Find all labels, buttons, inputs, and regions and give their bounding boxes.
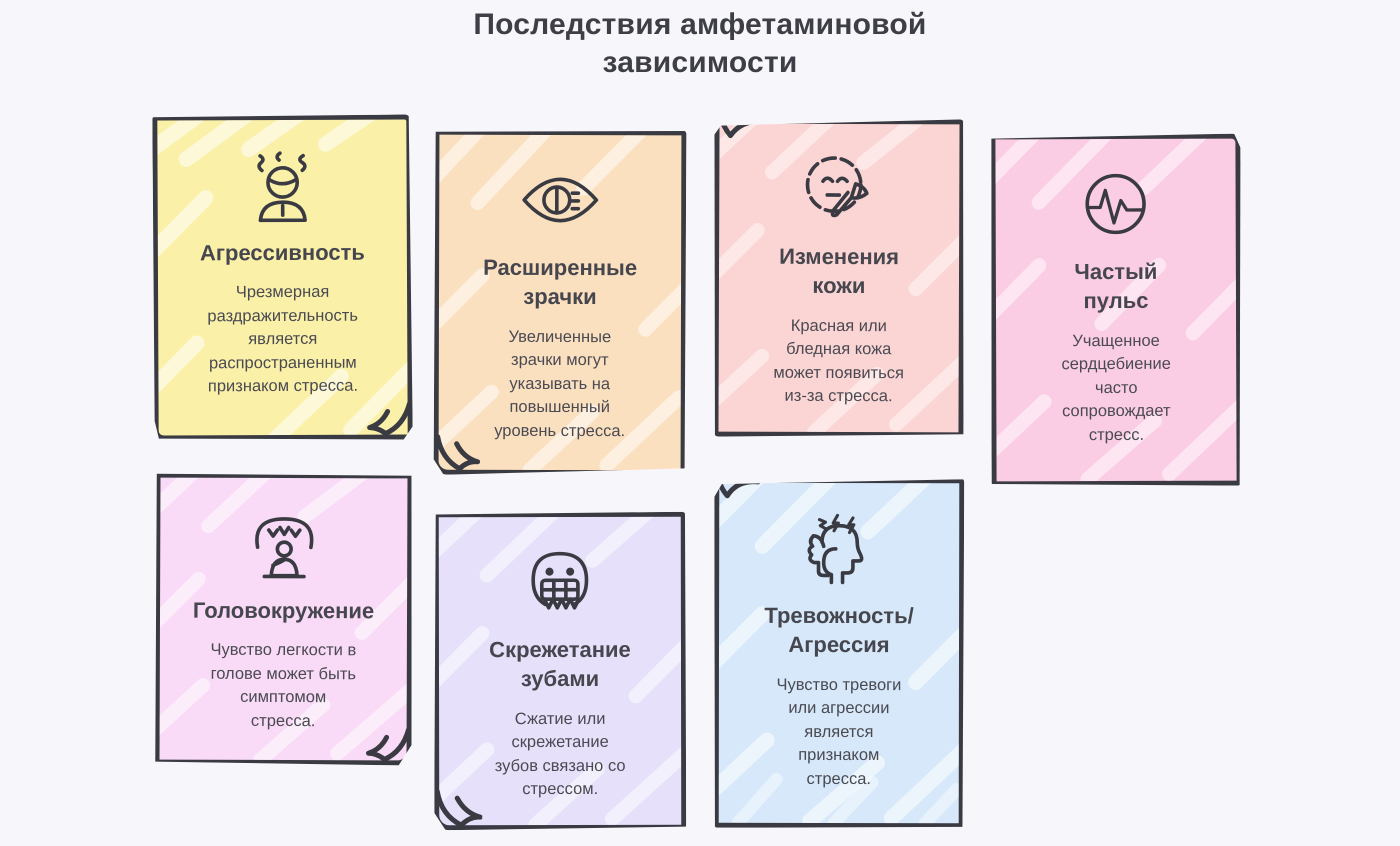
card-title: Скрежетание зубами xyxy=(489,635,631,694)
eye-dilated-pupil-icon xyxy=(517,157,603,243)
dizzy-person-icon xyxy=(241,500,327,586)
face-makeup-brush-icon xyxy=(796,146,882,232)
card-title: Тревожность/ Агрессия xyxy=(764,601,913,660)
page-title: Последствия амфетаминовой зависимости xyxy=(430,6,970,83)
card-dizziness[interactable]: Головокружение Чувство легкости в голове… xyxy=(154,473,412,766)
card-rapid-pulse[interactable]: Частый пульс Учащенное сердцебиение част… xyxy=(990,134,1241,487)
card-description: Сжатие или скрежетание зубов связано со … xyxy=(495,708,626,802)
card-skin-changes[interactable]: Изменения кожи Красная или бледная кожа … xyxy=(713,119,964,438)
card-dilated-pupils[interactable]: Расширенные зрачки Увеличенные зрачки мо… xyxy=(434,130,687,476)
card-title: Изменения кожи xyxy=(779,242,899,301)
card-description: Чрезмерная раздражительность является ра… xyxy=(207,281,358,399)
pulse-heartbeat-circle-icon xyxy=(1072,161,1158,247)
infographic-canvas: Последствия амфетаминовой зависимости xyxy=(0,0,1400,846)
angry-person-icon xyxy=(239,142,325,228)
card-title: Расширенные зрачки xyxy=(483,253,637,312)
card-title: Агрессивность xyxy=(200,238,365,268)
card-title: Частый пульс xyxy=(1074,257,1157,316)
card-description: Учащенное сердцебиение часто сопровождае… xyxy=(1061,330,1171,447)
card-teeth-grinding[interactable]: Скрежетание зубами Сжатие или скрежетани… xyxy=(434,512,687,830)
card-title: Головокружение xyxy=(193,596,374,626)
card-description: Чувство легкости в голове может быть сим… xyxy=(210,639,356,733)
card-description: Увеличенные зрачки могут указывать на по… xyxy=(494,326,625,443)
card-description: Красная или бледная кожа может появиться… xyxy=(773,315,904,409)
card-description: Чувство тревоги или агрессии является пр… xyxy=(776,674,901,791)
grinding-teeth-face-icon xyxy=(517,539,603,625)
card-anxiety-aggression[interactable]: Тревожность/ Агрессия Чувство тревоги ил… xyxy=(714,478,965,828)
two-heads-lightning-icon xyxy=(796,505,882,591)
card-aggression[interactable]: Агрессивность Чрезмерная раздражительнос… xyxy=(152,114,412,440)
